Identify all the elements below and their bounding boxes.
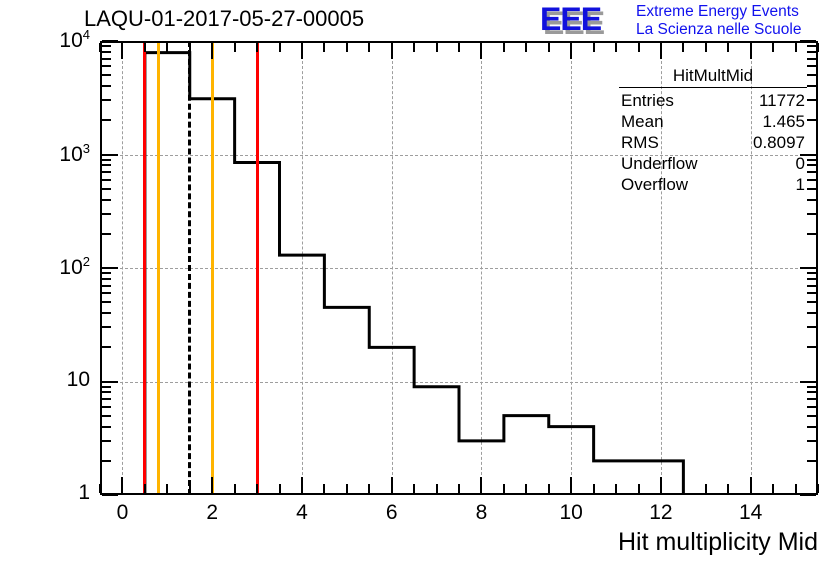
xtick-top-13.5: [727, 43, 729, 52]
xtick-10: [570, 477, 572, 493]
xtick-13.5: [727, 484, 729, 493]
stats-label: Overflow: [621, 174, 688, 195]
ytick-right-7: [807, 398, 816, 400]
ytick-right-30: [807, 326, 816, 328]
xtick-4: [301, 477, 303, 493]
eee-logo-line2: La Scienza nelle Scuole: [636, 21, 801, 39]
xtick-top-6: [391, 43, 393, 59]
y-axis-label-100: 102: [30, 254, 90, 280]
xtick-8.5: [503, 484, 505, 493]
xtick-top-6.5: [413, 43, 415, 52]
xtick-5.5: [368, 484, 370, 493]
ytick-400: [102, 199, 111, 201]
stats-row: Mean1.465: [617, 111, 809, 132]
ytick-right-20: [807, 346, 816, 348]
x-axis-label-0: 0: [92, 501, 152, 525]
xtick-10.5: [593, 484, 595, 493]
xtick-top-9.5: [548, 43, 550, 52]
ytick-300: [102, 213, 111, 215]
xtick-9: [525, 484, 527, 493]
xtick-13: [705, 484, 707, 493]
xtick-8: [480, 477, 482, 493]
xtick-7.5: [458, 484, 460, 493]
xtick-6.5: [413, 484, 415, 493]
ytick-right-100: [800, 267, 816, 269]
xtick-2: [211, 477, 213, 493]
x-axis-label-12: 12: [631, 501, 691, 525]
ytick-80: [102, 278, 111, 280]
ytick-1000: [102, 154, 118, 156]
xtick-top-8.5: [503, 43, 505, 52]
xtick-top-1.5: [189, 43, 191, 52]
xtick-top-5: [346, 43, 348, 52]
xtick-2.5: [234, 484, 236, 493]
ytick-6: [102, 406, 111, 408]
stats-label: RMS: [621, 132, 659, 153]
ytick-right-70: [807, 285, 816, 287]
ytick-5: [102, 415, 111, 417]
xtick-top-3.5: [279, 43, 281, 52]
xtick-1.5: [189, 484, 191, 493]
ytick-1: [102, 494, 118, 496]
ytick-right-50: [807, 301, 816, 303]
ytick-7: [102, 398, 111, 400]
xtick-4.5: [323, 484, 325, 493]
ytick-9: [102, 386, 111, 388]
ytick-8000: [102, 51, 111, 53]
ytick-right-40: [807, 312, 816, 314]
xtick-top-4: [301, 43, 303, 59]
y-axis-label-1: 1: [30, 481, 90, 505]
ytick-60: [102, 292, 111, 294]
eee-logo-line1: Extreme Energy Events: [636, 3, 799, 21]
stats-value: 11772: [759, 90, 805, 111]
stats-row: Underflow0: [617, 153, 809, 174]
page-title: LAQU-01-2017-05-27-00005: [84, 6, 364, 32]
ytick-700: [102, 171, 111, 173]
xtick-top-4.5: [323, 43, 325, 52]
ytick-200: [102, 233, 111, 235]
ytick-90: [102, 272, 111, 274]
ytick-right-2: [807, 460, 816, 462]
xtick-top-13: [705, 43, 707, 52]
xtick-top-3: [256, 43, 258, 52]
stats-label: Mean: [621, 111, 664, 132]
xtick-0.5: [144, 484, 146, 493]
eee-logo-mark: EEE: [540, 2, 601, 36]
x-axis-label-14: 14: [721, 501, 781, 525]
ytick-10: [102, 381, 118, 383]
ytick-900: [102, 159, 111, 161]
ytick-20: [102, 346, 111, 348]
ytick-70: [102, 285, 111, 287]
xtick-1: [166, 484, 168, 493]
ytick-3000: [102, 99, 111, 101]
stats-row: Overflow1: [617, 174, 809, 195]
ytick-10000: [102, 40, 118, 42]
xtick-6: [391, 477, 393, 493]
xtick-top-10: [570, 43, 572, 59]
ytick-7000: [102, 58, 111, 60]
ytick-50: [102, 301, 111, 303]
ytick-right-400: [807, 199, 816, 201]
stats-value: 1.465: [762, 111, 805, 132]
ytick-2000: [102, 119, 111, 121]
ytick-right-6: [807, 406, 816, 408]
ytick-5000: [102, 74, 111, 76]
ytick-600: [102, 179, 111, 181]
xtick-7: [436, 484, 438, 493]
ytick-right-4: [807, 426, 816, 428]
ytick-4: [102, 426, 111, 428]
xtick-12: [660, 477, 662, 493]
x-axis-title: Hit multiplicity Mid: [618, 528, 818, 557]
ytick-right-300: [807, 213, 816, 215]
xtick-top-7.5: [458, 43, 460, 52]
ytick-right-90: [807, 272, 816, 274]
ytick-right-8000: [807, 51, 816, 53]
stats-row: Entries11772: [617, 90, 809, 111]
xtick-15.5: [817, 484, 819, 493]
eee-logo: EEE Extreme Energy Events La Scienza nel…: [540, 2, 832, 40]
x-axis-label-6: 6: [362, 501, 422, 525]
stats-label: Underflow: [621, 153, 698, 174]
ytick-right-1: [800, 494, 816, 496]
xtick-top-0.5: [144, 43, 146, 52]
ytick-right-60: [807, 292, 816, 294]
x-axis-label-10: 10: [541, 501, 601, 525]
ytick-right-7000: [807, 58, 816, 60]
xtick-top-0: [121, 43, 123, 59]
xtick-top--0.5: [99, 43, 101, 52]
ytick-right-9: [807, 386, 816, 388]
xtick-14.5: [772, 484, 774, 493]
xtick-9.5: [548, 484, 550, 493]
xtick-top-2: [211, 43, 213, 59]
xtick-3: [256, 484, 258, 493]
xtick-12.5: [682, 484, 684, 493]
ytick-right-9000: [807, 45, 816, 47]
xtick-5: [346, 484, 348, 493]
stats-box: HitMultMid Entries11772Mean1.465RMS0.809…: [617, 66, 809, 195]
stats-value: 1: [796, 174, 805, 195]
x-axis-label-2: 2: [182, 501, 242, 525]
stats-title: HitMultMid: [619, 66, 807, 88]
xtick-top-1: [166, 43, 168, 52]
xtick-15: [795, 484, 797, 493]
ytick-right-80: [807, 278, 816, 280]
xtick-11: [615, 484, 617, 493]
ytick-40: [102, 312, 111, 314]
stats-value: 0: [796, 153, 805, 174]
xtick-top-8: [480, 43, 482, 59]
ytick-800: [102, 164, 111, 166]
xtick-top-2.5: [234, 43, 236, 52]
ytick-8: [102, 391, 111, 393]
ytick-500: [102, 188, 111, 190]
stats-value: 0.8097: [753, 132, 805, 153]
ytick-right-10000: [800, 40, 816, 42]
ytick-2: [102, 460, 111, 462]
ytick-right-5: [807, 415, 816, 417]
xtick-3.5: [279, 484, 281, 493]
ytick-right-3: [807, 440, 816, 442]
xtick--0.5: [99, 484, 101, 493]
x-axis-label-4: 4: [272, 501, 332, 525]
ytick-30: [102, 326, 111, 328]
stats-label: Entries: [621, 90, 674, 111]
xtick-top-9: [525, 43, 527, 52]
xtick-top-12.5: [682, 43, 684, 52]
y-axis-label-10: 10: [30, 368, 90, 392]
y-axis-label-1000: 103: [30, 141, 90, 167]
xtick-top-5.5: [368, 43, 370, 52]
xtick-11.5: [638, 484, 640, 493]
xtick-top-15.5: [817, 43, 819, 52]
ytick-right-200: [807, 233, 816, 235]
xtick-top-12: [660, 43, 662, 59]
xtick-top-14.5: [772, 43, 774, 52]
xtick-top-10.5: [593, 43, 595, 52]
ytick-right-10: [800, 381, 816, 383]
xtick-0: [121, 477, 123, 493]
ytick-3: [102, 440, 111, 442]
xtick-14: [750, 477, 752, 493]
xtick-top-14: [750, 43, 752, 59]
ytick-4000: [102, 85, 111, 87]
stats-rows: Entries11772Mean1.465RMS0.8097Underflow0…: [617, 90, 809, 195]
ytick-100: [102, 267, 118, 269]
stats-row: RMS0.8097: [617, 132, 809, 153]
y-axis-label-10000: 104: [30, 27, 90, 53]
xtick-top-11.5: [638, 43, 640, 52]
ytick-6000: [102, 65, 111, 67]
ytick-right-8: [807, 391, 816, 393]
xtick-top-7: [436, 43, 438, 52]
xtick-top-15: [795, 43, 797, 52]
root-canvas: LAQU-01-2017-05-27-00005 EEE Extreme Ene…: [0, 0, 836, 572]
ytick-9000: [102, 45, 111, 47]
xtick-top-11: [615, 43, 617, 52]
x-axis-label-8: 8: [451, 501, 511, 525]
